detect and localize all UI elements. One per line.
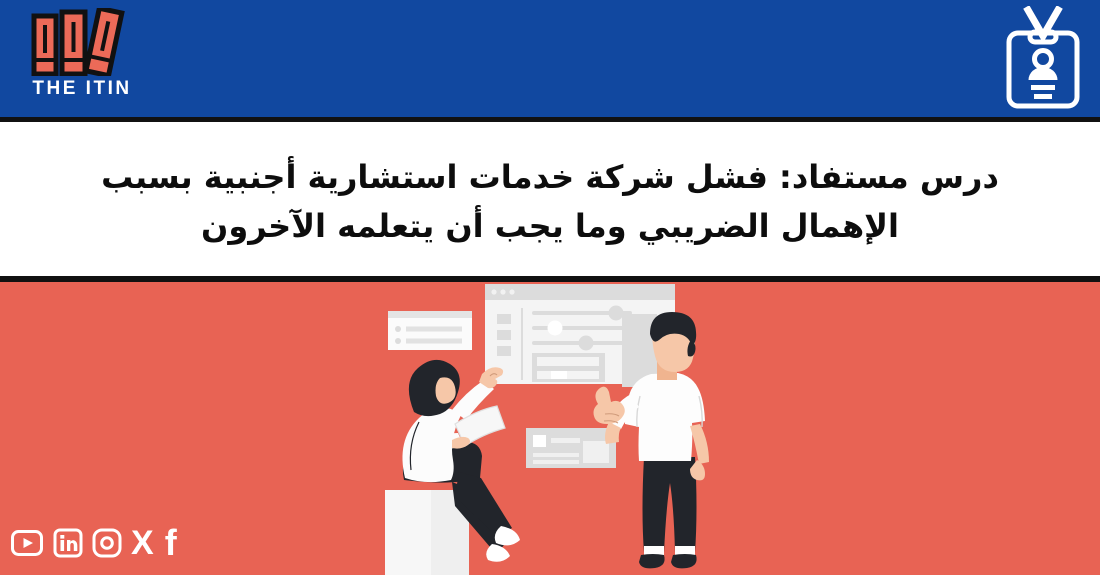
brand-logo[interactable]: THE ITIN — [22, 8, 142, 108]
brand-name: THE ITIN — [22, 78, 142, 100]
media-card — [526, 428, 616, 468]
list-card — [388, 311, 472, 350]
x-icon[interactable]: X — [131, 526, 154, 560]
linkedin-icon[interactable] — [53, 528, 83, 558]
facebook-icon[interactable]: f — [163, 525, 177, 561]
article-banner: THE ITIN درس مستفاد: فشل شركة خدمات استش… — [0, 0, 1100, 575]
three-books-icon — [30, 8, 130, 76]
social-links: X f — [10, 525, 177, 561]
youtube-icon[interactable] — [10, 529, 44, 557]
id-badge-icon[interactable] — [1002, 6, 1084, 110]
brand-header: THE ITIN — [0, 0, 1100, 117]
dashboard-panel — [485, 300, 675, 387]
page-title: درس مستفاد: فشل شركة خدمات استشارية أجنب… — [60, 153, 1040, 250]
hero-illustration: X f — [0, 282, 1100, 575]
instagram-icon[interactable] — [92, 528, 122, 558]
headline-section: درس مستفاد: فشل شركة خدمات استشارية أجنب… — [0, 122, 1100, 281]
